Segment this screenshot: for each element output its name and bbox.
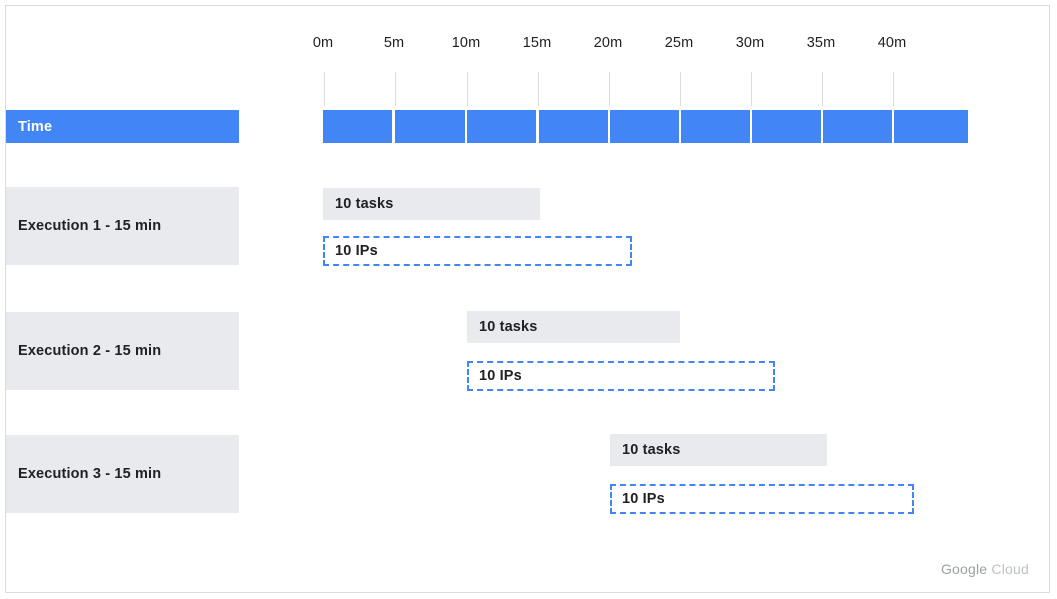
- time-bar-segment: [395, 110, 465, 143]
- time-bar-segment: [752, 110, 821, 143]
- axis-tick-mark: [893, 72, 894, 106]
- axis-tick-label: 25m: [665, 35, 694, 51]
- axis-tick-mark: [751, 72, 752, 106]
- tasks-bar-1: 10 tasks: [323, 188, 540, 220]
- time-bar-segment: [539, 110, 608, 143]
- tasks-bar-3: 10 tasks: [610, 434, 827, 466]
- tasks-bar-text: 10 tasks: [335, 196, 393, 212]
- time-row-label: Time: [6, 110, 239, 143]
- axis-tick-label: 20m: [594, 35, 623, 51]
- axis-tick-mark: [395, 72, 396, 106]
- execution-row-label-3: Execution 3 - 15 min: [6, 435, 239, 513]
- axis-tick-mark: [822, 72, 823, 106]
- time-bar-segment: [894, 110, 968, 143]
- time-bar-segment: [681, 110, 750, 143]
- execution-row-label-text: Execution 2 - 15 min: [18, 343, 161, 359]
- axis-tick-label: 0m: [313, 35, 333, 51]
- time-bar-segment: [323, 110, 392, 143]
- axis-tick-mark: [680, 72, 681, 106]
- time-bar-segment: [610, 110, 679, 143]
- time-row-label-text: Time: [18, 119, 52, 135]
- axis-tick-label: 5m: [384, 35, 404, 51]
- execution-row-label-1: Execution 1 - 15 min: [6, 187, 239, 265]
- ips-box-1: 10 IPs: [323, 236, 632, 266]
- axis-tick-label: 10m: [452, 35, 481, 51]
- time-bar-segment: [467, 110, 536, 143]
- tasks-bar-2: 10 tasks: [467, 311, 680, 343]
- slide-canvas: 0m5m10m15m20m25m30m35m40m Time Execution…: [0, 0, 1057, 599]
- google-cloud-logo: Google Cloud: [941, 561, 1029, 577]
- execution-row-label-text: Execution 3 - 15 min: [18, 466, 161, 482]
- axis-tick-mark: [467, 72, 468, 106]
- axis-tick-label: 35m: [807, 35, 836, 51]
- ips-box-text: 10 IPs: [622, 491, 665, 507]
- ips-box-text: 10 IPs: [479, 368, 522, 384]
- tasks-bar-text: 10 tasks: [479, 319, 537, 335]
- tasks-bar-text: 10 tasks: [622, 442, 680, 458]
- logo-brand-text: Google: [941, 561, 987, 577]
- axis-tick-mark: [538, 72, 539, 106]
- axis-tick-label: 15m: [523, 35, 552, 51]
- execution-row-label-2: Execution 2 - 15 min: [6, 312, 239, 390]
- execution-row-label-text: Execution 1 - 15 min: [18, 218, 161, 234]
- axis-tick-label: 30m: [736, 35, 765, 51]
- ips-box-2: 10 IPs: [467, 361, 775, 391]
- time-bar-segment: [823, 110, 892, 143]
- axis-tick-mark: [609, 72, 610, 106]
- ips-box-text: 10 IPs: [335, 243, 378, 259]
- ips-box-3: 10 IPs: [610, 484, 914, 514]
- axis-tick-mark: [324, 72, 325, 106]
- axis-tick-label: 40m: [878, 35, 907, 51]
- logo-product-text: Cloud: [991, 561, 1029, 577]
